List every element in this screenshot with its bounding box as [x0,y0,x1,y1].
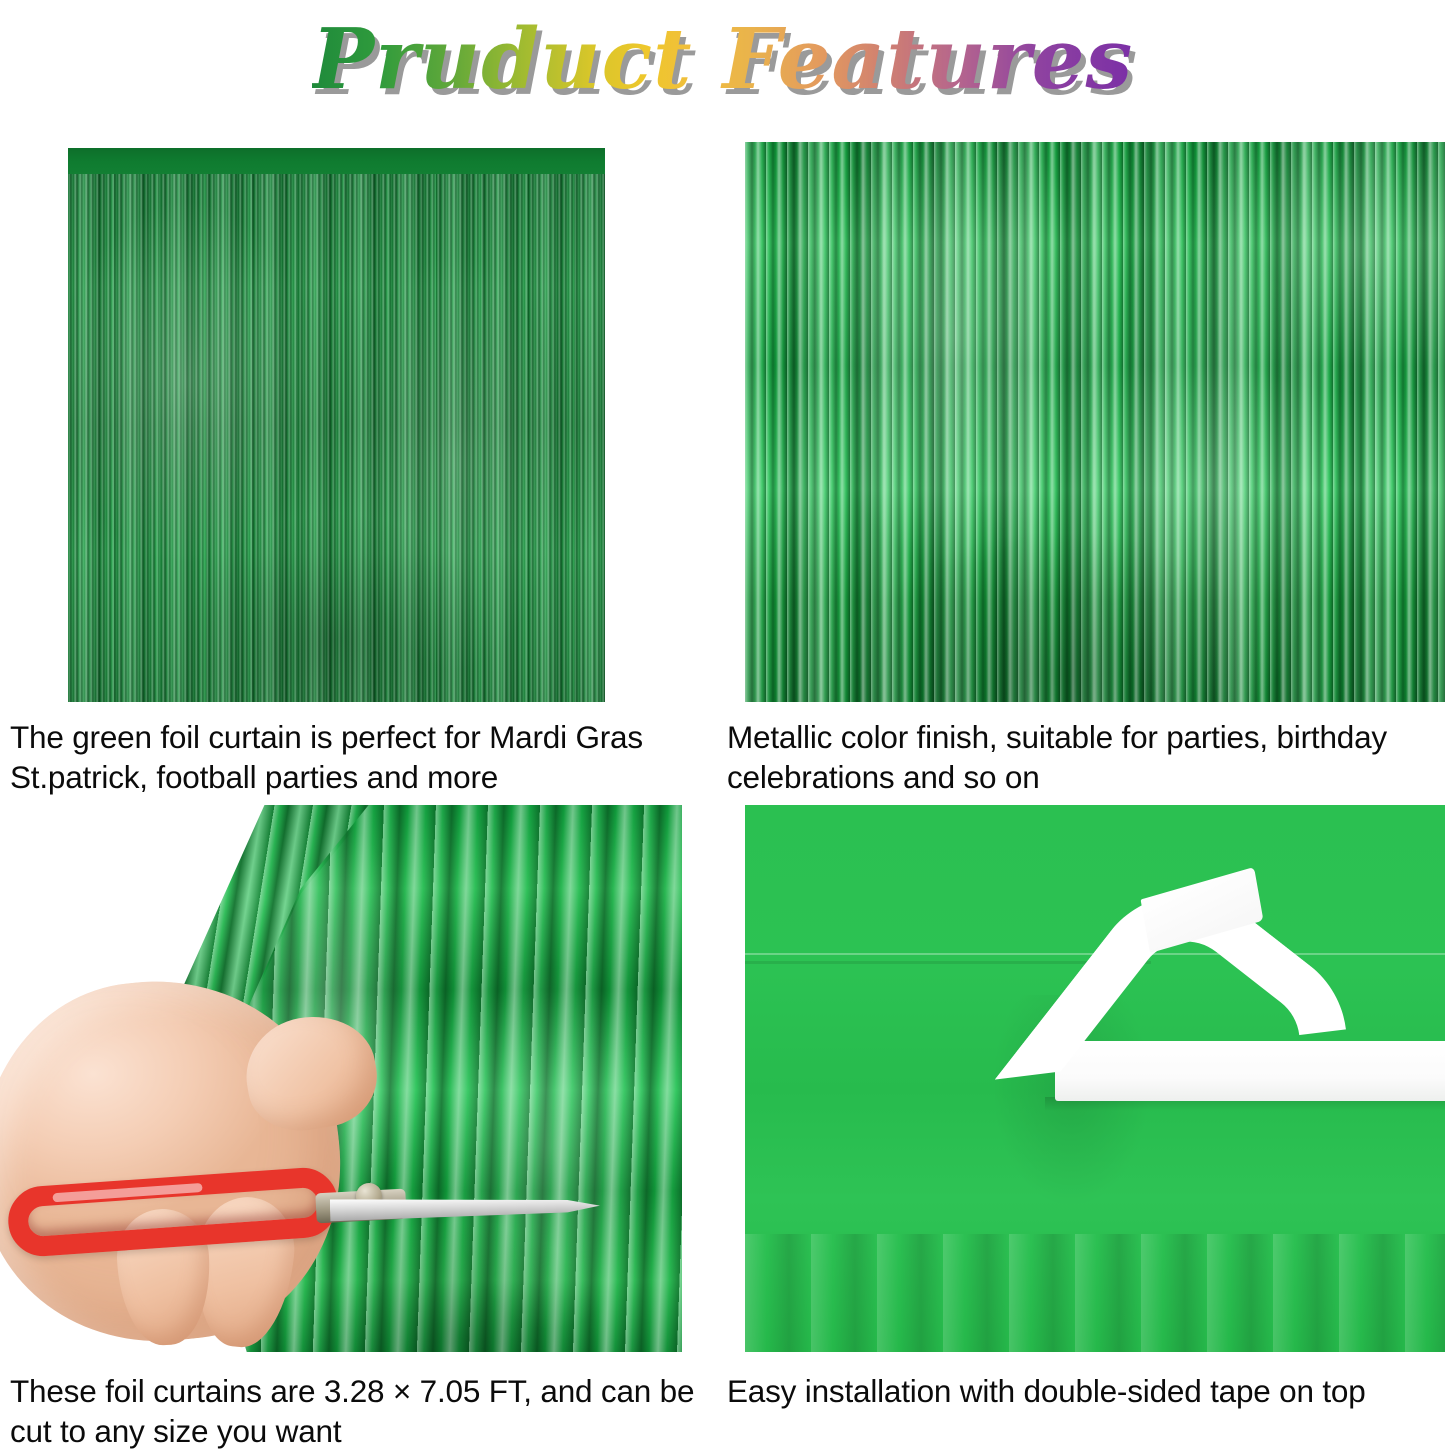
page-title-text: Pruduct Features [312,10,1134,108]
metallic-sheen-overlay [745,142,1445,702]
curtain-header-band [68,148,605,174]
foil-bottom-fringe-cuts [745,1234,1445,1352]
cutting-with-scissors-photo [0,805,682,1352]
caption-curtain-use: The green foil curtain is perfect for Ma… [10,718,710,797]
page-title: Pruduct Features Pruduct Features [312,18,1134,101]
curtain-sheen-overlay [68,170,605,702]
green-foil-curtain-photo [68,148,605,702]
metallic-finish-photo [745,142,1445,702]
page-title-banner: Pruduct Features Pruduct Features [0,0,1445,118]
caption-size-and-cutting: These foil curtains are 3.28 × 7.05 FT, … [10,1372,700,1451]
tape-peeled-curl [1053,910,1233,1100]
caption-metallic-finish: Metallic color finish, suitable for part… [727,718,1445,797]
double-sided-tape-photo [745,805,1445,1352]
caption-installation: Easy installation with double-sided tape… [727,1372,1445,1412]
